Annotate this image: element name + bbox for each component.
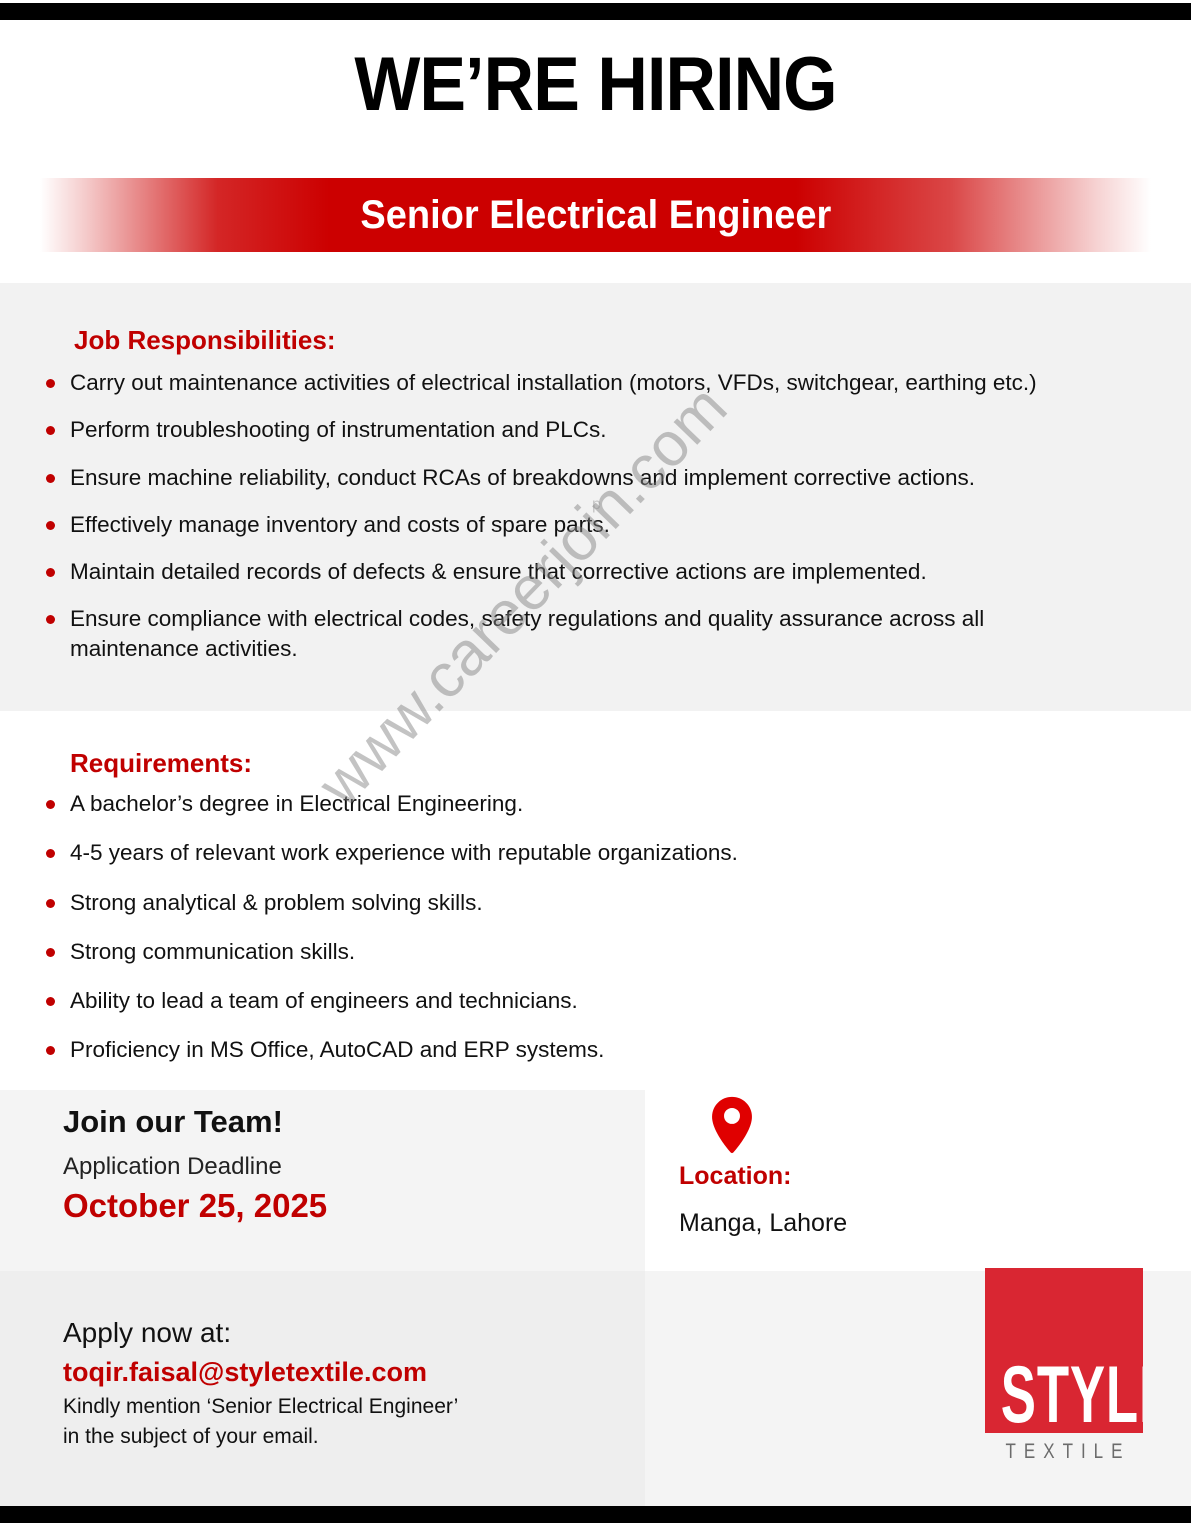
apply-email[interactable]: toqir.faisal@styletextile.com <box>63 1357 427 1388</box>
list-item: Strong communication skills. <box>38 937 1158 966</box>
list-item: Strong analytical & problem solving skil… <box>38 888 1158 917</box>
job-title-banner: Senior Electrical Engineer <box>40 178 1151 252</box>
location-value: Manga, Lahore <box>679 1209 847 1238</box>
map-pin-icon <box>710 1096 754 1154</box>
list-item: Effectively manage inventory and costs o… <box>38 510 1158 539</box>
logo-square: STYLE <box>985 1268 1143 1433</box>
join-team-title: Join our Team! <box>63 1104 283 1140</box>
job-poster: WE’RE HIRING Senior Electrical Engineer … <box>0 0 1191 1536</box>
list-item: Proficiency in MS Office, AutoCAD and ER… <box>38 1035 1158 1064</box>
location-label: Location: <box>679 1162 792 1191</box>
responsibilities-heading: Job Responsibilities: <box>74 325 336 356</box>
requirements-list: A bachelor’s degree in Electrical Engine… <box>38 789 1158 1085</box>
apply-label: Apply now at: <box>63 1317 231 1349</box>
application-deadline-date: October 25, 2025 <box>63 1187 327 1225</box>
list-item: Ensure compliance with electrical codes,… <box>38 604 1100 663</box>
company-logo: STYLE TEXTILE <box>985 1268 1143 1459</box>
top-black-bar <box>0 3 1191 20</box>
application-deadline-label: Application Deadline <box>63 1153 282 1181</box>
list-item: 4-5 years of relevant work experience wi… <box>38 838 1158 867</box>
apply-note-line-1: Kindly mention ‘Senior Electrical Engine… <box>63 1395 458 1419</box>
logo-subtitle: TEXTILE <box>985 1439 1143 1464</box>
apply-note-line-2: in the subject of your email. <box>63 1425 319 1449</box>
apply-band <box>0 1271 645 1506</box>
bottom-black-bar <box>0 1506 1191 1523</box>
page-title: WE’RE HIRING <box>48 45 1144 125</box>
list-item: Carry out maintenance activities of elec… <box>38 368 1158 397</box>
list-item: Ability to lead a team of engineers and … <box>38 986 1158 1015</box>
requirements-heading: Requirements: <box>70 748 252 779</box>
list-item: A bachelor’s degree in Electrical Engine… <box>38 789 1158 818</box>
list-item: Perform troubleshooting of instrumentati… <box>38 415 1158 444</box>
list-item: Ensure machine reliability, conduct RCAs… <box>38 463 1158 492</box>
responsibilities-list: Carry out maintenance activities of elec… <box>38 368 1158 681</box>
list-item: Maintain detailed records of defects & e… <box>38 557 1158 586</box>
logo-wordmark: STYLE <box>1001 1356 1127 1433</box>
job-title: Senior Electrical Engineer <box>360 193 831 238</box>
